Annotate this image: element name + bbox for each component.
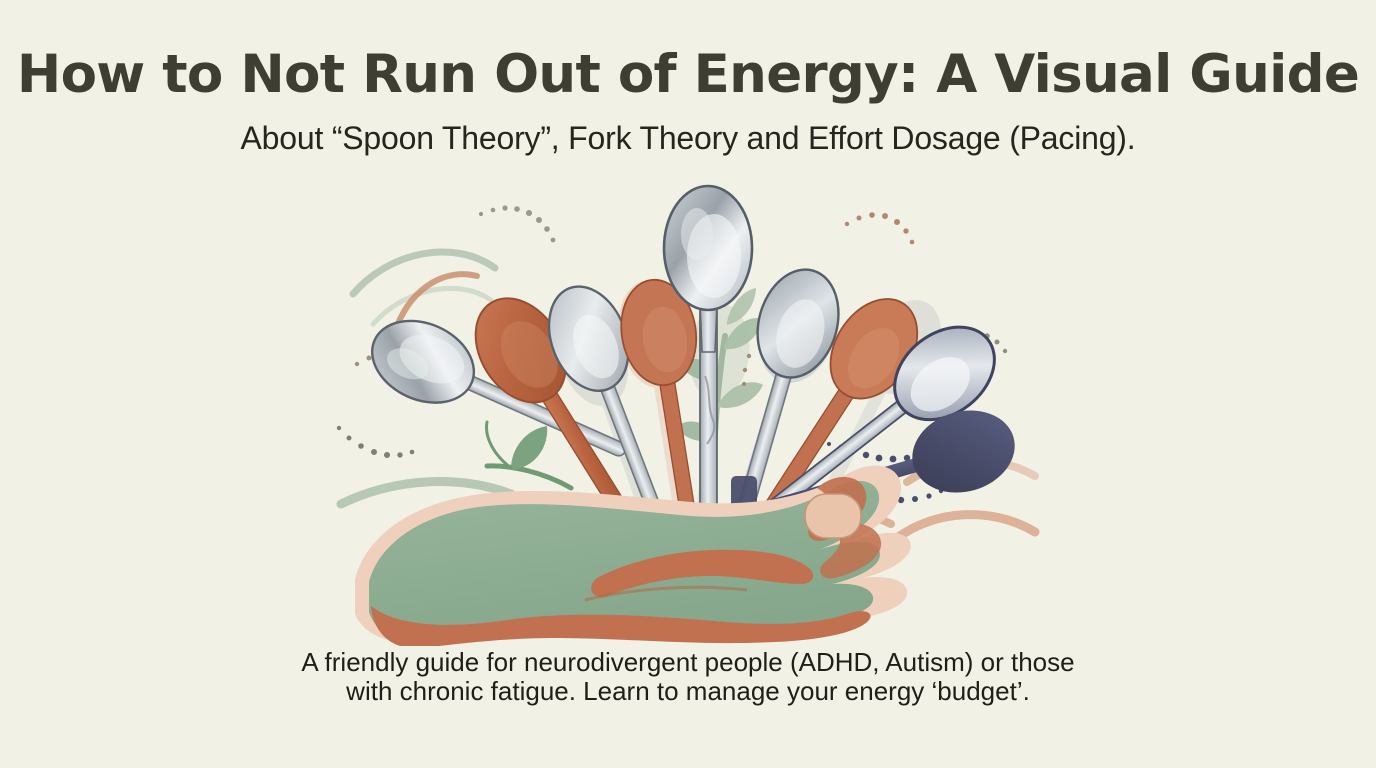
decorative-swirl-terracotta-upper-left — [397, 274, 477, 326]
header-block: How to Not Run Out of Energy: A Visual G… — [0, 0, 1376, 157]
caption-line-2: with chronic fatigue. Learn to manage yo… — [0, 677, 1376, 706]
caption-line-1: A friendly guide for neurodivergent peop… — [0, 648, 1376, 677]
slide-root: How to Not Run Out of Energy: A Visual G… — [0, 0, 1376, 768]
hand-holding-spoons-illustration — [335, 176, 1041, 646]
page-subtitle: About “Spoon Theory”, Fork Theory and Ef… — [0, 119, 1376, 157]
dotted-arc-upper-right — [845, 212, 915, 244]
dotted-arc-lower-left — [337, 426, 415, 458]
dotted-arc-upper-left — [479, 205, 556, 242]
page-title: How to Not Run Out of Energy: A Visual G… — [0, 44, 1376, 107]
leaf-sprig-left — [487, 422, 571, 488]
caption-block: A friendly guide for neurodivergent peop… — [0, 648, 1376, 707]
